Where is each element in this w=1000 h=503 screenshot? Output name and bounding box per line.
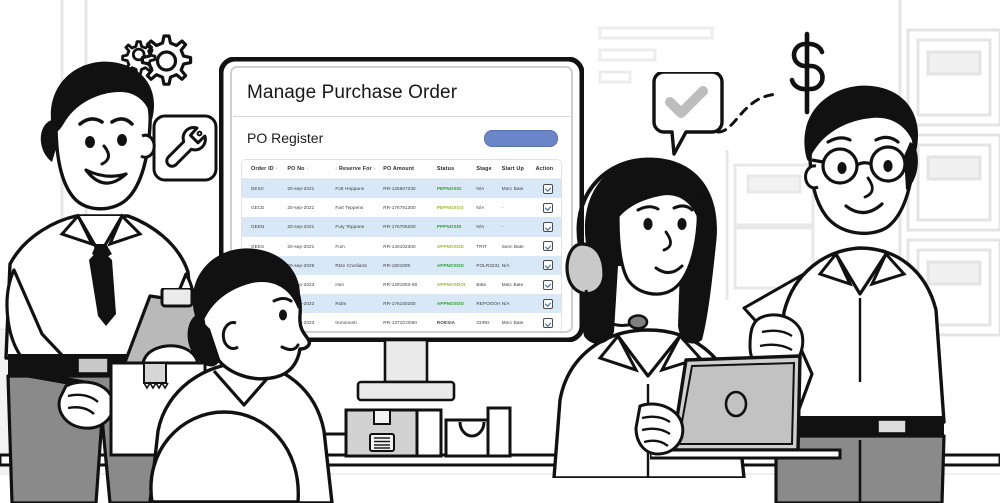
- cell-po-amount: RR-140102300: [383, 237, 437, 256]
- headset-icon: [556, 150, 706, 340]
- cell-stage: TRIT: [476, 237, 501, 256]
- column-header-start-up[interactable]: Start Up: [502, 160, 536, 179]
- column-header-stage[interactable]: Stage: [476, 160, 501, 179]
- table-row[interactable]: DESV20-sep-2021Fott HeppansRR-125607330P…: [242, 179, 561, 199]
- cell-order-id: GECE: [242, 198, 287, 217]
- sort-chevron-icon[interactable]: ›: [306, 166, 308, 172]
- shopping-bag: [444, 406, 524, 458]
- cell-order-id: GEEN: [242, 217, 287, 236]
- app-title-bar: Manage Purchase Order: [233, 69, 570, 117]
- cell-reserve-for: Fott Heppans: [335, 179, 383, 199]
- cell-reserve-for: Fart Teppens: [335, 198, 383, 217]
- cell-po-amount: RR-13710:0060: [383, 313, 437, 330]
- table-row[interactable]: GECE20-sep-2021Fart TeppensRR-176781300P…: [242, 198, 561, 217]
- cell-po-no: 20-sep-2021: [287, 198, 335, 217]
- cell-start-up: Morc Bate: [502, 313, 536, 330]
- cell-start-up: Morc Bate: [502, 179, 536, 199]
- cell-po-no: 20-sep-2021: [287, 217, 335, 236]
- status-badge: PEPNOSCO: [437, 205, 464, 210]
- cell-stage: N/A: [476, 198, 501, 217]
- cell-po-amount: RR-176705200: [383, 217, 437, 236]
- cell-order-id: DESV: [242, 179, 287, 199]
- status-badge: ROESIA: [437, 320, 455, 325]
- cell-status: PPPNOSDI: [437, 217, 476, 236]
- cell-start-up: Matc Bate: [502, 275, 536, 294]
- cell-status: APPNOSOD: [437, 237, 476, 256]
- column-header-po-amount[interactable]: PO Amount: [383, 160, 437, 179]
- cell-start-up: N/A: [502, 256, 536, 275]
- status-badge: PPPNOSDI: [437, 224, 462, 229]
- prev-chevron-icon[interactable]: ‹: [335, 166, 337, 172]
- status-badge: APPNOSOD: [437, 244, 464, 249]
- primary-action-button[interactable]: [484, 130, 558, 147]
- cell-po-amount: RR-176781300: [383, 198, 437, 217]
- cell-start-up: -: [502, 217, 536, 236]
- cardboard-box-center: [344, 408, 444, 458]
- cell-po-amount: RR-1291053-80: [383, 275, 437, 294]
- column-header-reserve-for[interactable]: ‹ Reserve For ›: [335, 160, 383, 179]
- status-badge: APPNOSDOI: [437, 282, 465, 287]
- cell-status: APPNOSOD: [437, 256, 476, 275]
- cell-stage: POLR3331: [476, 256, 501, 275]
- cell-start-up: Senc Bate: [502, 237, 536, 256]
- table-header-row: Order ID › PO No › ‹ Reserve For › PO Am…: [242, 160, 561, 179]
- cell-po-amount: RR-1801000: [383, 256, 437, 275]
- cell-po-amount: RR-176100200: [383, 294, 437, 313]
- status-badge: APPNOSOD: [437, 263, 464, 268]
- cell-reserve-for: Futy Teppane: [335, 217, 383, 236]
- column-header-order-id[interactable]: Order ID ›: [242, 160, 287, 179]
- cell-stage: Bate: [476, 275, 501, 294]
- cell-status: APPNOSDOI: [437, 275, 476, 294]
- cell-po-amount: RR-125607330: [383, 179, 437, 199]
- cell-status: ROESIA: [437, 313, 476, 330]
- cell-po-no: 20-sep-2021: [287, 179, 335, 199]
- column-header-po-no[interactable]: PO No ›: [287, 160, 335, 179]
- table-row[interactable]: GEEN20-sep-2021Futy TeppaneRR-176705200P…: [242, 217, 561, 236]
- office-chair: [126, 398, 316, 503]
- cell-stage: N/A: [476, 217, 501, 236]
- cell-status: PEPNOSGI: [437, 179, 476, 199]
- cell-stage: GIIRD: [476, 313, 501, 330]
- column-header-status[interactable]: Status: [437, 160, 476, 179]
- cell-start-up: N/A: [502, 294, 536, 313]
- status-badge: PEPNOSGI: [437, 186, 462, 191]
- cell-stage: REPOOOH: [476, 294, 501, 313]
- sort-chevron-icon[interactable]: ›: [275, 166, 277, 172]
- cell-status: APPNOSOD: [437, 294, 476, 313]
- section-header: PO Register: [233, 117, 570, 159]
- cell-start-up: -: [502, 198, 536, 217]
- hand-typing: [634, 398, 692, 458]
- section-title: PO Register: [247, 130, 323, 146]
- cell-stage: N/A: [476, 179, 501, 199]
- illustration-scene: Manage Purchase Order PO Register Order …: [0, 0, 1000, 503]
- cell-status: PEPNOSCO: [437, 198, 476, 217]
- sort-chevron-icon[interactable]: ›: [373, 166, 375, 172]
- page-title: Manage Purchase Order: [247, 82, 457, 104]
- status-badge: APPNOSOD: [437, 301, 464, 306]
